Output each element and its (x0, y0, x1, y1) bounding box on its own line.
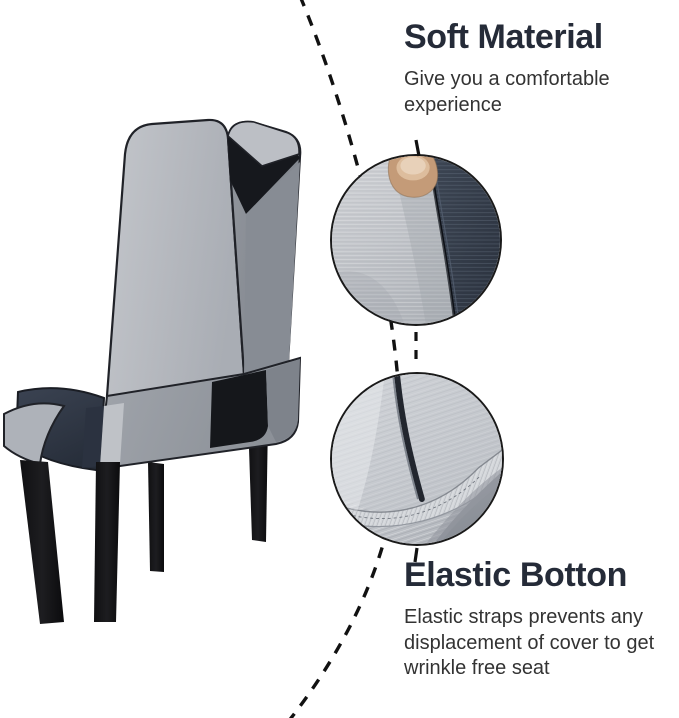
skirt-stripe-light (100, 403, 124, 466)
back-panel-light (107, 120, 244, 414)
chair-illustration (0, 62, 320, 652)
feature-block-soft-material: Soft Material Give you a comfortable exp… (404, 20, 672, 118)
feature-description: Give you a comfortable experience (404, 67, 672, 118)
product-infographic: Soft Material Give you a comfortable exp… (0, 0, 679, 718)
detail-circle-soft-material (330, 154, 502, 326)
feature-description: Elastic straps prevents any displacement… (404, 605, 672, 681)
feature-title: Elastic Botton (404, 558, 672, 593)
skirt-patch-black (210, 370, 268, 448)
skirt-patch-right-gray (266, 359, 300, 442)
detail-circle-elastic-botton (330, 372, 504, 546)
feature-title: Soft Material (404, 20, 672, 55)
feature-block-elastic-botton: Elastic Botton Elastic straps prevents a… (404, 558, 672, 682)
chair-legs-front (20, 460, 120, 624)
